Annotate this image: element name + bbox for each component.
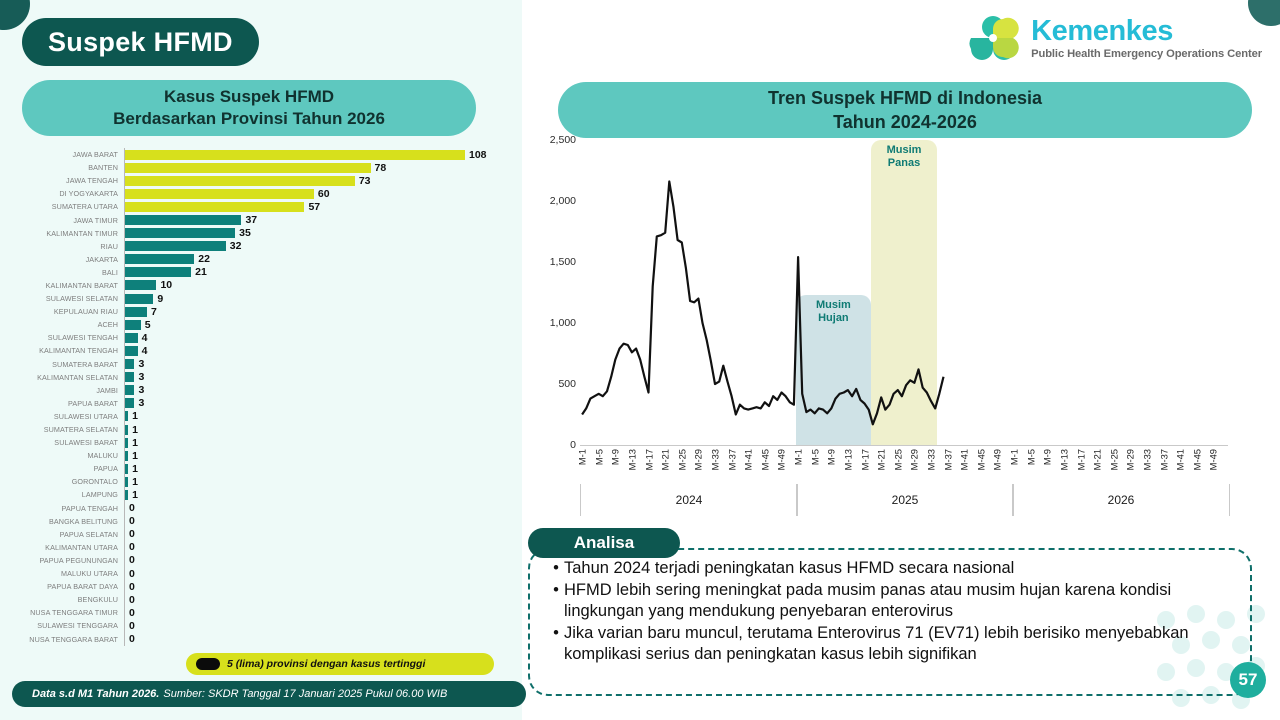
bar-value-label: 4 bbox=[142, 345, 148, 357]
bar-track: 37 bbox=[124, 213, 522, 226]
bar-fill bbox=[125, 202, 304, 212]
bar-fill bbox=[125, 176, 355, 186]
page-title-badge: Suspek HFMD bbox=[22, 18, 259, 66]
line-chart-plot-area: MusimHujanMusimPanas bbox=[580, 140, 1228, 445]
bar-fill bbox=[125, 385, 134, 395]
page-number-badge: 57 bbox=[1230, 662, 1266, 698]
x-axis-tick: M-17 bbox=[859, 449, 870, 470]
x-axis-tick: M-13 bbox=[626, 449, 637, 470]
bar-row: PAPUA1 bbox=[0, 462, 522, 475]
x-axis-tick: M-33 bbox=[710, 449, 721, 470]
bar-category-label: MALUKU bbox=[0, 451, 124, 460]
footer-data-period: Data s.d M1 Tahun 2026. bbox=[32, 688, 159, 700]
x-axis-tick: M-29 bbox=[909, 449, 920, 470]
x-axis-year-group: 2025 bbox=[796, 484, 1014, 516]
bar-fill bbox=[125, 425, 128, 435]
bar-fill bbox=[125, 241, 226, 251]
bar-row: SUMATERA BARAT3 bbox=[0, 358, 522, 371]
x-axis-tick: M-5 bbox=[1025, 449, 1036, 465]
analysis-item: •HFMD lebih sering meningkat pada musim … bbox=[548, 580, 1238, 622]
bar-track: 0 bbox=[124, 515, 522, 528]
bar-value-label: 22 bbox=[198, 253, 210, 265]
bar-value-label: 7 bbox=[151, 306, 157, 318]
bullet-icon: • bbox=[548, 623, 564, 665]
bar-category-label: SULAWESI UTARA bbox=[0, 412, 124, 421]
bar-track: 1 bbox=[124, 462, 522, 475]
y-axis-labels: 05001,0001,5002,0002,500 bbox=[530, 140, 576, 445]
bar-row: KEPULAUAN RIAU7 bbox=[0, 305, 522, 318]
bar-category-label: BENGKULU bbox=[0, 595, 124, 604]
x-axis-tick: M-13 bbox=[1058, 449, 1069, 470]
x-axis-tick: M-41 bbox=[959, 449, 970, 470]
bar-value-label: 57 bbox=[308, 201, 320, 213]
bar-row: KALIMANTAN SELATAN3 bbox=[0, 371, 522, 384]
legend-label: 5 (lima) provinsi dengan kasus tertinggi bbox=[227, 658, 425, 670]
bar-value-label: 10 bbox=[160, 279, 172, 291]
x-axis-tick: M-37 bbox=[1158, 449, 1169, 470]
bar-category-label: PAPUA PEGUNUNGAN bbox=[0, 556, 124, 565]
bar-chart-legend: 5 (lima) provinsi dengan kasus tertinggi bbox=[186, 653, 494, 675]
x-axis-tick: M-45 bbox=[1191, 449, 1202, 470]
bar-track: 0 bbox=[124, 528, 522, 541]
bar-chart-title-line1: Kasus Suspek HFMD bbox=[164, 86, 334, 108]
x-axis-tick: M-29 bbox=[693, 449, 704, 470]
bar-value-label: 0 bbox=[129, 554, 135, 566]
x-axis-tick: M-49 bbox=[776, 449, 787, 470]
bar-category-label: PAPUA BARAT DAYA bbox=[0, 582, 124, 591]
bar-value-label: 0 bbox=[129, 515, 135, 527]
bar-fill bbox=[125, 464, 128, 474]
bar-row: DI YOGYAKARTA60 bbox=[0, 187, 522, 200]
y-axis-tick: 2,000 bbox=[550, 195, 576, 207]
bar-value-label: 35 bbox=[239, 227, 251, 239]
trend-line-chart: 05001,0001,5002,0002,500 MusimHujanMusim… bbox=[530, 140, 1260, 515]
line-chart-title-line1: Tren Suspek HFMD di Indonesia bbox=[768, 86, 1042, 110]
bar-category-label: MALUKU UTARA bbox=[0, 569, 124, 578]
x-axis-tick: M-9 bbox=[826, 449, 837, 465]
x-axis-tick: M-29 bbox=[1125, 449, 1136, 470]
bar-category-label: DI YOGYAKARTA bbox=[0, 189, 124, 198]
bar-value-label: 1 bbox=[132, 476, 138, 488]
bar-fill bbox=[125, 215, 241, 225]
bar-track: 0 bbox=[124, 580, 522, 593]
bar-category-label: SUMATERA BARAT bbox=[0, 360, 124, 369]
x-axis-tick: M-41 bbox=[743, 449, 754, 470]
bar-row: JAMBI3 bbox=[0, 384, 522, 397]
bar-value-label: 73 bbox=[359, 175, 371, 187]
bar-track: 22 bbox=[124, 253, 522, 266]
bar-track: 0 bbox=[124, 606, 522, 619]
bar-value-label: 4 bbox=[142, 332, 148, 344]
bar-value-label: 1 bbox=[132, 410, 138, 422]
bar-category-label: SUMATERA SELATAN bbox=[0, 425, 124, 434]
bar-value-label: 0 bbox=[129, 620, 135, 632]
bar-track: 1 bbox=[124, 410, 522, 423]
bar-category-label: KALIMANTAN UTARA bbox=[0, 543, 124, 552]
bar-fill bbox=[125, 228, 235, 238]
bar-track: 1 bbox=[124, 475, 522, 488]
bar-chart-title-banner: Kasus Suspek HFMD Berdasarkan Provinsi T… bbox=[22, 80, 476, 136]
bar-track: 1 bbox=[124, 449, 522, 462]
bar-track: 0 bbox=[124, 541, 522, 554]
analysis-item-text: Tahun 2024 terjadi peningkatan kasus HFM… bbox=[564, 558, 1014, 579]
bar-row: JAWA TENGAH73 bbox=[0, 174, 522, 187]
bar-value-label: 3 bbox=[138, 384, 144, 396]
bar-value-label: 3 bbox=[138, 397, 144, 409]
bar-track: 7 bbox=[124, 305, 522, 318]
bar-value-label: 0 bbox=[129, 568, 135, 580]
bar-row: NUSA TENGGARA TIMUR0 bbox=[0, 606, 522, 619]
x-axis-tick: M-9 bbox=[1042, 449, 1053, 465]
bar-value-label: 0 bbox=[129, 502, 135, 514]
page-title: Suspek HFMD bbox=[48, 27, 233, 58]
bar-fill bbox=[125, 359, 134, 369]
bar-value-label: 1 bbox=[132, 424, 138, 436]
y-axis-tick: 0 bbox=[570, 439, 576, 451]
bar-category-label: PAPUA SELATAN bbox=[0, 530, 124, 539]
bar-track: 0 bbox=[124, 502, 522, 515]
page-number: 57 bbox=[1239, 670, 1258, 690]
bar-category-label: SULAWESI SELATAN bbox=[0, 294, 124, 303]
bar-category-label: JAWA TENGAH bbox=[0, 176, 124, 185]
bar-row: BENGKULU0 bbox=[0, 593, 522, 606]
x-axis-tick: M-41 bbox=[1175, 449, 1186, 470]
bar-track: 4 bbox=[124, 344, 522, 357]
bar-fill bbox=[125, 438, 128, 448]
bar-value-label: 9 bbox=[157, 293, 163, 305]
bar-row: JAWA BARAT108 bbox=[0, 148, 522, 161]
bar-fill bbox=[125, 333, 138, 343]
x-axis-tick: M-9 bbox=[610, 449, 621, 465]
bar-category-label: KALIMANTAN SELATAN bbox=[0, 373, 124, 382]
bar-row: SUMATERA SELATAN1 bbox=[0, 423, 522, 436]
bar-row: RIAU32 bbox=[0, 240, 522, 253]
bar-category-label: JAKARTA bbox=[0, 255, 124, 264]
bar-track: 73 bbox=[124, 174, 522, 187]
x-axis-tick: M-25 bbox=[1108, 449, 1119, 470]
bar-category-label: JAWA BARAT bbox=[0, 150, 124, 159]
bar-track: 78 bbox=[124, 161, 522, 174]
bar-row: KALIMANTAN TIMUR35 bbox=[0, 227, 522, 240]
bar-row: BALI21 bbox=[0, 266, 522, 279]
x-axis-year-group: 2026 bbox=[1012, 484, 1230, 516]
bar-value-label: 78 bbox=[375, 162, 387, 174]
bar-fill bbox=[125, 451, 128, 461]
bar-row: PAPUA TENGAH0 bbox=[0, 502, 522, 515]
bar-row: KALIMANTAN BARAT10 bbox=[0, 279, 522, 292]
bar-row: BANGKA BELITUNG0 bbox=[0, 515, 522, 528]
bar-chart-title-line2: Berdasarkan Provinsi Tahun 2026 bbox=[113, 108, 385, 130]
line-chart-title-banner: Tren Suspek HFMD di Indonesia Tahun 2024… bbox=[558, 82, 1252, 138]
bar-category-label: SULAWESI TENGAH bbox=[0, 333, 124, 342]
bar-fill bbox=[125, 254, 194, 264]
bar-category-label: GORONTALO bbox=[0, 477, 124, 486]
bar-track: 1 bbox=[124, 488, 522, 501]
bar-fill bbox=[125, 267, 191, 277]
bar-row: KALIMANTAN TENGAH4 bbox=[0, 344, 522, 357]
bar-category-label: KEPULAUAN RIAU bbox=[0, 307, 124, 316]
x-axis-tick: M-1 bbox=[577, 449, 588, 465]
x-axis-tick: M-21 bbox=[876, 449, 887, 470]
bar-track: 0 bbox=[124, 632, 522, 645]
bar-fill bbox=[125, 477, 128, 487]
bar-value-label: 0 bbox=[129, 594, 135, 606]
bar-value-label: 1 bbox=[132, 463, 138, 475]
x-axis-tick: M-45 bbox=[975, 449, 986, 470]
bar-fill bbox=[125, 372, 134, 382]
bar-category-label: LAMPUNG bbox=[0, 490, 124, 499]
bar-track: 5 bbox=[124, 318, 522, 331]
bar-track: 108 bbox=[124, 148, 522, 161]
y-axis-tick: 2,500 bbox=[550, 134, 576, 146]
bar-value-label: 5 bbox=[145, 319, 151, 331]
bar-category-label: KALIMANTAN BARAT bbox=[0, 281, 124, 290]
analysis-tab-label: Analisa bbox=[574, 533, 634, 553]
bar-track: 4 bbox=[124, 331, 522, 344]
bar-category-label: ACEH bbox=[0, 320, 124, 329]
x-axis-tick: M-1 bbox=[1009, 449, 1020, 465]
bar-category-label: BALI bbox=[0, 268, 124, 277]
bar-fill bbox=[125, 150, 465, 160]
analysis-list: •Tahun 2024 terjadi peningkatan kasus HF… bbox=[548, 558, 1238, 667]
bar-value-label: 0 bbox=[129, 607, 135, 619]
bar-category-label: NUSA TENGGARA TIMUR bbox=[0, 608, 124, 617]
x-axis-tick: M-5 bbox=[593, 449, 604, 465]
x-axis-tick: M-33 bbox=[1142, 449, 1153, 470]
analysis-tab: Analisa bbox=[528, 528, 680, 558]
bar-track: 3 bbox=[124, 371, 522, 384]
bar-row: BANTEN78 bbox=[0, 161, 522, 174]
bar-row: PAPUA BARAT DAYA0 bbox=[0, 580, 522, 593]
bar-category-label: SULAWESI BARAT bbox=[0, 438, 124, 447]
bar-fill bbox=[125, 398, 134, 408]
bullet-icon: • bbox=[548, 580, 564, 622]
bar-category-label: SUMATERA UTARA bbox=[0, 202, 124, 211]
kemenkes-logo: Kemenkes Public Health Emergency Operati… bbox=[963, 8, 1262, 70]
bar-track: 3 bbox=[124, 384, 522, 397]
bar-value-label: 1 bbox=[132, 489, 138, 501]
x-axis-tick: M-37 bbox=[942, 449, 953, 470]
bar-value-label: 60 bbox=[318, 188, 330, 200]
bar-track: 0 bbox=[124, 554, 522, 567]
x-axis-tick: M-17 bbox=[1075, 449, 1086, 470]
data-source-footer: Data s.d M1 Tahun 2026. Sumber: SKDR Tan… bbox=[12, 681, 526, 707]
bar-value-label: 0 bbox=[129, 541, 135, 553]
bar-category-label: PAPUA bbox=[0, 464, 124, 473]
x-axis-tick: M-25 bbox=[676, 449, 687, 470]
bar-row: SULAWESI TENGGARA0 bbox=[0, 619, 522, 632]
bar-row: SULAWESI TENGAH4 bbox=[0, 331, 522, 344]
bar-row: JAKARTA22 bbox=[0, 253, 522, 266]
bar-row: LAMPUNG1 bbox=[0, 488, 522, 501]
bar-row: ACEH5 bbox=[0, 318, 522, 331]
bar-fill bbox=[125, 189, 314, 199]
bar-value-label: 0 bbox=[129, 633, 135, 645]
x-axis-year-group: 2024 bbox=[580, 484, 798, 516]
x-axis-tick: M-1 bbox=[793, 449, 804, 465]
x-axis-tick: M-49 bbox=[1208, 449, 1219, 470]
analysis-item: •Jika varian baru muncul, terutama Enter… bbox=[548, 623, 1238, 665]
bar-row: KALIMANTAN UTARA0 bbox=[0, 541, 522, 554]
bar-category-label: KALIMANTAN TENGAH bbox=[0, 346, 124, 355]
x-axis-year-label: 2024 bbox=[676, 493, 703, 507]
bar-row: SULAWESI BARAT1 bbox=[0, 436, 522, 449]
x-axis-tick: M-21 bbox=[1092, 449, 1103, 470]
bar-row: SULAWESI UTARA1 bbox=[0, 410, 522, 423]
bar-track: 57 bbox=[124, 200, 522, 213]
province-bar-chart: JAWA BARAT108BANTEN78JAWA TENGAH73DI YOG… bbox=[0, 148, 522, 668]
analysis-item: •Tahun 2024 terjadi peningkatan kasus HF… bbox=[548, 558, 1238, 579]
bar-category-label: PAPUA TENGAH bbox=[0, 504, 124, 513]
bar-category-label: BANTEN bbox=[0, 163, 124, 172]
bar-row: SULAWESI SELATAN9 bbox=[0, 292, 522, 305]
bar-track: 0 bbox=[124, 593, 522, 606]
bar-value-label: 0 bbox=[129, 528, 135, 540]
bar-fill bbox=[125, 320, 141, 330]
bar-value-label: 32 bbox=[230, 240, 242, 252]
x-axis-tick: M-37 bbox=[726, 449, 737, 470]
bar-row: MALUKU1 bbox=[0, 449, 522, 462]
bar-track: 0 bbox=[124, 619, 522, 632]
bar-row: MALUKU UTARA0 bbox=[0, 567, 522, 580]
bar-track: 0 bbox=[124, 567, 522, 580]
x-axis-tick: M-33 bbox=[926, 449, 937, 470]
bar-category-label: PAPUA BARAT bbox=[0, 399, 124, 408]
bar-row: GORONTALO1 bbox=[0, 475, 522, 488]
bar-value-label: 37 bbox=[245, 214, 257, 226]
kemenkes-clover-icon bbox=[963, 8, 1025, 70]
bullet-icon: • bbox=[548, 558, 564, 579]
bar-row: PAPUA PEGUNUNGAN0 bbox=[0, 554, 522, 567]
bar-category-label: RIAU bbox=[0, 242, 124, 251]
analysis-item-text: Jika varian baru muncul, terutama Entero… bbox=[564, 623, 1238, 665]
x-axis-tick: M-45 bbox=[759, 449, 770, 470]
x-axis-tick: M-25 bbox=[892, 449, 903, 470]
bar-category-label: JAMBI bbox=[0, 386, 124, 395]
bar-row: PAPUA BARAT3 bbox=[0, 397, 522, 410]
bar-track: 3 bbox=[124, 397, 522, 410]
bar-value-label: 3 bbox=[138, 358, 144, 370]
x-axis-year-label: 2026 bbox=[1108, 493, 1135, 507]
bar-track: 1 bbox=[124, 436, 522, 449]
bar-category-label: SULAWESI TENGGARA bbox=[0, 621, 124, 630]
bar-fill bbox=[125, 163, 371, 173]
y-axis-tick: 500 bbox=[558, 378, 576, 390]
line-chart-title-line2: Tahun 2024-2026 bbox=[833, 110, 977, 134]
bar-track: 21 bbox=[124, 266, 522, 279]
bar-category-label: KALIMANTAN TIMUR bbox=[0, 229, 124, 238]
x-axis-tick: M-5 bbox=[809, 449, 820, 465]
bar-track: 60 bbox=[124, 187, 522, 200]
legend-capsule-icon bbox=[196, 658, 220, 670]
bar-fill bbox=[125, 411, 128, 421]
analysis-item-text: HFMD lebih sering meningkat pada musim p… bbox=[564, 580, 1238, 622]
bar-value-label: 21 bbox=[195, 266, 207, 278]
x-axis-tick: M-49 bbox=[992, 449, 1003, 470]
bar-fill bbox=[125, 490, 128, 500]
footer-source: Sumber: SKDR Tanggal 17 Januari 2025 Puk… bbox=[163, 688, 447, 700]
bar-value-label: 1 bbox=[132, 437, 138, 449]
trend-line-path bbox=[580, 140, 1228, 445]
bar-track: 9 bbox=[124, 292, 522, 305]
x-axis-area: M-1M-5M-9M-13M-17M-21M-25M-29M-33M-37M-4… bbox=[580, 445, 1228, 516]
logo-name: Kemenkes bbox=[1031, 17, 1262, 46]
bar-value-label: 0 bbox=[129, 581, 135, 593]
x-axis-year-label: 2025 bbox=[892, 493, 919, 507]
logo-text: Kemenkes Public Health Emergency Operati… bbox=[1031, 17, 1262, 60]
bar-value-label: 108 bbox=[469, 149, 487, 161]
bar-row: JAWA TIMUR37 bbox=[0, 213, 522, 226]
bar-track: 32 bbox=[124, 240, 522, 253]
bar-fill bbox=[125, 346, 138, 356]
y-axis-tick: 1,500 bbox=[550, 256, 576, 268]
bar-category-label: JAWA TIMUR bbox=[0, 216, 124, 225]
bar-fill bbox=[125, 280, 156, 290]
x-axis-tick: M-21 bbox=[660, 449, 671, 470]
bar-category-label: BANGKA BELITUNG bbox=[0, 517, 124, 526]
bar-track: 1 bbox=[124, 423, 522, 436]
x-axis-tick: M-17 bbox=[643, 449, 654, 470]
bar-row: PAPUA SELATAN0 bbox=[0, 528, 522, 541]
bar-value-label: 3 bbox=[138, 371, 144, 383]
bar-track: 35 bbox=[124, 227, 522, 240]
bar-fill bbox=[125, 307, 147, 317]
y-axis-tick: 1,000 bbox=[550, 317, 576, 329]
x-axis-tick: M-13 bbox=[842, 449, 853, 470]
bar-value-label: 1 bbox=[132, 450, 138, 462]
bar-row: NUSA TENGGARA BARAT0 bbox=[0, 632, 522, 645]
bar-fill bbox=[125, 294, 153, 304]
bar-track: 3 bbox=[124, 358, 522, 371]
bar-track: 10 bbox=[124, 279, 522, 292]
bar-category-label: NUSA TENGGARA BARAT bbox=[0, 635, 124, 644]
logo-subtitle: Public Health Emergency Operations Cente… bbox=[1031, 49, 1262, 60]
bar-row: SUMATERA UTARA57 bbox=[0, 200, 522, 213]
